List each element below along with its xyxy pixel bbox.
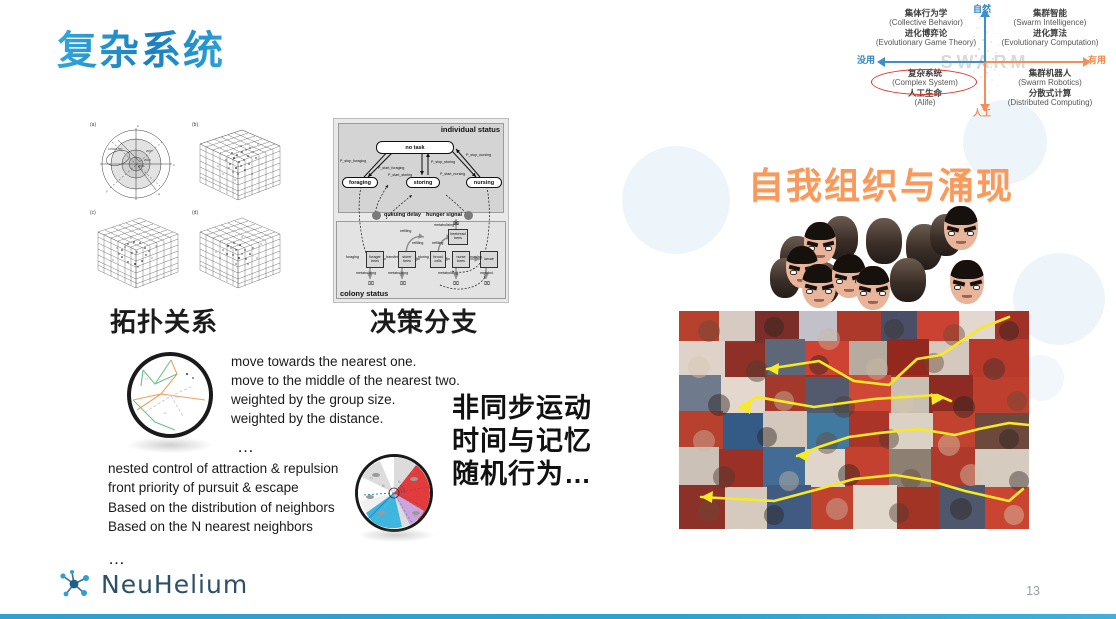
- cell-cn-2: 进化博弈论: [867, 28, 985, 38]
- colony-node-brood-cells: brood cells: [430, 251, 446, 268]
- colony-node-beebread: beebread bees: [448, 229, 468, 245]
- svg-text:n1: n1: [145, 377, 149, 381]
- signal-dot-queuing: [372, 211, 381, 220]
- svg-text:n3: n3: [175, 395, 179, 399]
- colony-edge-metabol: metabol.: [480, 271, 494, 275]
- footer-bar: [0, 614, 1116, 619]
- svg-text:ZOO: ZOO: [144, 158, 151, 162]
- rules-group-b: nested control of attraction & repulsion…: [108, 459, 338, 571]
- rule-line: weighted by the distance.: [231, 409, 460, 428]
- edge-label-stop-nursing: P_stop_nursing: [466, 153, 491, 157]
- colony-edge-refilling-3: refilling: [432, 241, 443, 245]
- caption-line: 随机行为…: [452, 458, 592, 491]
- topology-network-graph: n1n2n3: [127, 352, 213, 438]
- page-number: 13: [1026, 584, 1040, 598]
- cell-en-2: (Evolutionary Computation): [988, 38, 1112, 48]
- colony-node-storer-bees: storer bees: [398, 251, 416, 268]
- colony-edge-metabolizing-2: metabolizing: [356, 271, 376, 275]
- axis-artificial: [984, 62, 986, 107]
- caption-async-motion: 非同步运动 时间与记忆 随机行为…: [452, 392, 592, 491]
- shadow-blob: [128, 437, 212, 453]
- svg-text:z: z: [137, 124, 139, 128]
- sink-marker-4: ⌧: [484, 281, 490, 287]
- quadrant-cell-top-left: 集体行为学 (Collective Behavior) 进化博弈论 (Evolu…: [867, 8, 985, 48]
- caption-decision-branch: 决策分支: [370, 302, 478, 339]
- colony-edge-refilling: refilling: [400, 229, 411, 233]
- colony-edge-nursing: nursing: [470, 255, 482, 259]
- colony-edge-refilling-2: refilling: [412, 241, 423, 245]
- sink-marker-1: ⌧: [368, 281, 374, 287]
- panel-a-polar-zones: (a) zxy ZORZOOZOA: [88, 122, 184, 204]
- colony-edge-foraging: foraging: [346, 255, 359, 259]
- signal-dot-hunger: [464, 211, 473, 220]
- quadrant-cell-bottom-right: 集群机器人 (Swarm Robotics) 分散式计算 (Distribute…: [988, 68, 1112, 108]
- colony-edge-metabolizing-3: metabolizing: [388, 271, 408, 275]
- caption-topology: 拓扑关系: [110, 302, 218, 339]
- sensor-sector-diagram: θ₁θ₂ r₁r₂ r₃r₄: [355, 454, 433, 532]
- panel-label-d: (d): [192, 210, 198, 216]
- panel-b-3d-scatter: (b): [190, 122, 286, 204]
- axis-useful: [986, 61, 1085, 63]
- cell-en-2: (Alife): [869, 98, 981, 108]
- panel-label-c: (c): [90, 210, 96, 216]
- rule-line: Based on the N nearest neighbors: [108, 517, 338, 536]
- caption-line: 时间与记忆: [452, 425, 592, 458]
- sink-marker-5: ⌧: [453, 221, 459, 227]
- cell-cn-1: 集群智能: [988, 8, 1112, 18]
- status-node-storing: storing: [406, 177, 440, 188]
- colony-edge-storing: storing: [418, 255, 429, 259]
- cell-cn-2: 分散式计算: [988, 88, 1112, 98]
- rule-line: weighted by the group size.: [231, 390, 460, 409]
- swarm-quadrant-diagram: SWARM: [855, 2, 1113, 122]
- topology-figure-panels: (a) zxy ZORZOOZOA: [88, 122, 288, 294]
- panel-c-3d-scatter: (c): [88, 210, 184, 292]
- rule-line: Based on the distribution of neighbors: [108, 498, 338, 517]
- axis-label-useless: 没用: [857, 53, 875, 66]
- sink-marker-3: ⌧: [453, 281, 459, 287]
- rule-ellipsis: …: [108, 547, 338, 571]
- axis-label-useful: 有用: [1088, 53, 1106, 66]
- molecule-node-icon: [58, 569, 92, 599]
- colony-node-nurse-bees: nurse bees: [452, 251, 470, 268]
- crowd-photo-with-flow-lines: [679, 311, 1029, 529]
- cartoon-crowd-illustration: [770, 196, 988, 304]
- status-node-foraging: foraging: [342, 177, 378, 188]
- svg-text:ZOA: ZOA: [138, 164, 145, 168]
- rules-group-a: move towards the nearest one. move to th…: [231, 352, 460, 459]
- shadow-blob: [358, 528, 434, 542]
- slide-canvas: 复杂系统 SWARM: [0, 0, 1116, 619]
- edge-label-stop-storing: P_stop_storing: [431, 160, 455, 164]
- status-node-nursing: nursing: [466, 177, 502, 188]
- arrow-left-icon: [877, 57, 885, 67]
- cell-en-1: (Swarm Robotics): [988, 78, 1112, 88]
- svg-text:α: α: [158, 192, 160, 196]
- svg-text:CHNO-45°: CHNO-45°: [108, 147, 124, 151]
- rule-line: front priority of pursuit & escape: [108, 478, 338, 497]
- colony-node-forager-bees: forager bees: [366, 251, 384, 268]
- axis-useless: [885, 61, 984, 63]
- complex-system-highlight-ellipse: [871, 69, 977, 95]
- svg-text:ZOR: ZOR: [146, 149, 153, 153]
- colony-node-larvae: larvae: [480, 251, 498, 268]
- cell-cn-2: 进化算法: [988, 28, 1112, 38]
- sink-marker-2: ⌧: [400, 281, 406, 287]
- decision-branch-figure: individual status colony status: [333, 118, 509, 303]
- page-title: 复杂系统: [57, 18, 225, 76]
- signal-label-queuing-delay: queuing delay: [384, 212, 421, 218]
- edge-label-start-nursing: P_start_nursing: [440, 172, 465, 176]
- colony-edge-metabolizing-4: metabolizing: [438, 271, 458, 275]
- status-node-no-task: no task: [376, 141, 454, 154]
- cell-en-1: (Swarm Intelligence): [988, 18, 1112, 28]
- edge-label-start-storing: P_start_storing: [388, 173, 412, 177]
- logo-text: NeuHelium: [101, 570, 248, 599]
- svg-text:x: x: [173, 163, 175, 167]
- cell-en-2: (Distributed Computing): [988, 98, 1112, 108]
- cell-cn-1: 集体行为学: [867, 8, 985, 18]
- edge-label-start-foraging: P_start_foraging: [378, 166, 404, 170]
- decorative-circle: [622, 146, 730, 254]
- rule-line: nested control of attraction & repulsion: [108, 459, 338, 478]
- rule-ellipsis: …: [237, 435, 460, 459]
- colony-edge-transfer: transfer: [386, 255, 398, 259]
- cell-cn-1: 集群机器人: [988, 68, 1112, 78]
- panel-d-3d-scatter: (d): [190, 210, 286, 292]
- panel-label-a: (a): [90, 122, 96, 128]
- svg-text:y: y: [106, 189, 108, 193]
- colony-edge-metabolizing: metabolizing: [434, 223, 454, 227]
- flow-line-overlay: [679, 311, 1029, 529]
- rule-line: move towards the nearest one.: [231, 352, 460, 371]
- rule-line: move to the middle of the nearest two.: [231, 371, 460, 390]
- cell-en-1: (Collective Behavior): [867, 18, 985, 28]
- signal-label-hunger: hunger signal: [426, 212, 462, 218]
- svg-text:n2: n2: [163, 411, 167, 415]
- edge-label-stop-foraging: P_stop_foraging: [340, 159, 366, 163]
- quadrant-cell-top-right: 集群智能 (Swarm Intelligence) 进化算法 (Evolutio…: [988, 8, 1112, 48]
- cell-en-2: (Evolutionary Game Theory): [867, 38, 985, 48]
- caption-line: 非同步运动: [452, 392, 592, 425]
- brand-logo: NeuHelium: [58, 569, 248, 599]
- panel-label-b: (b): [192, 122, 198, 128]
